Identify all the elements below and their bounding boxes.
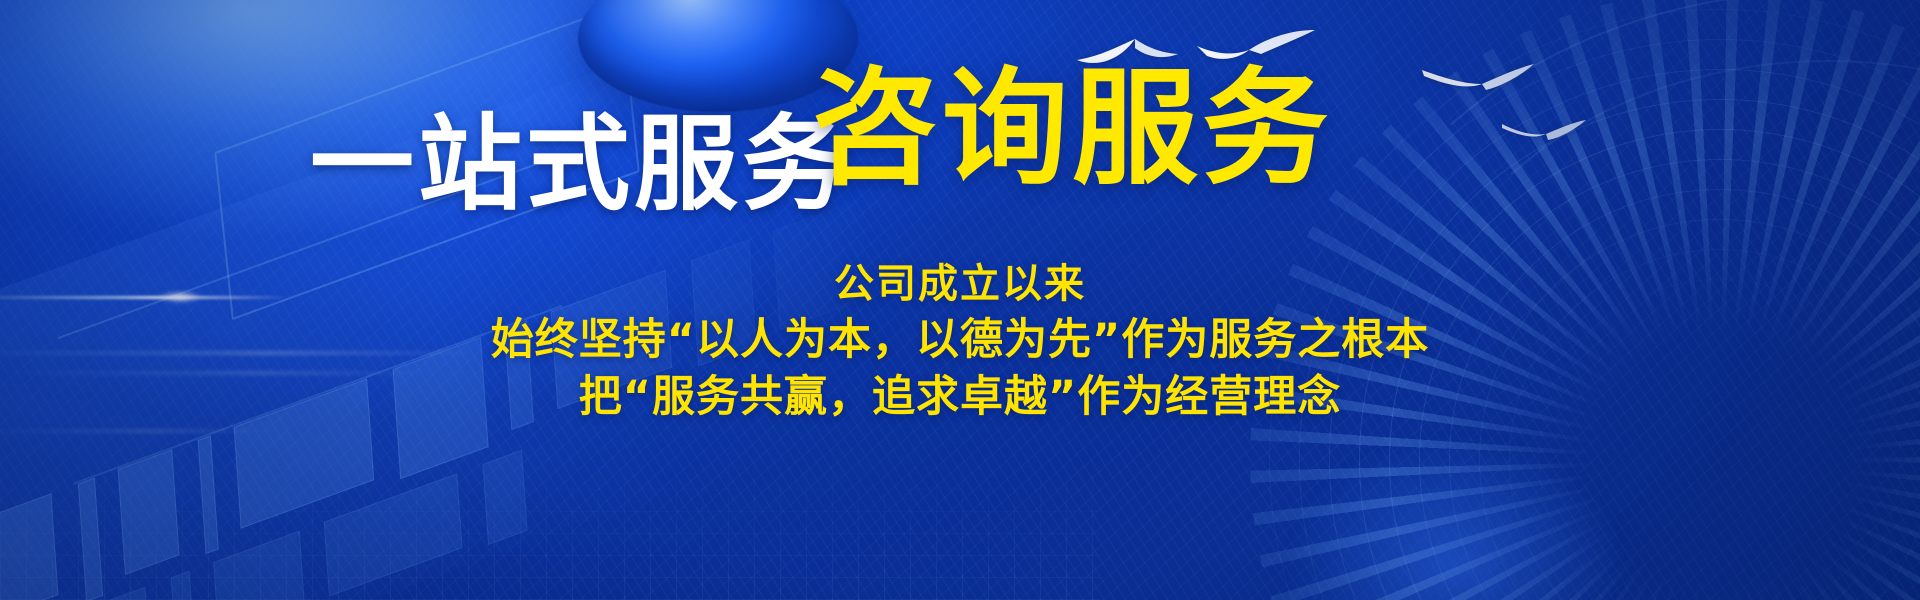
body-line: 把“服务共赢，追求卓越”作为经营理念	[0, 369, 1920, 427]
promo-banner: 一站式服务 咨询服务 公司成立以来 始终坚持“以人为本，以德为先”作为服务之根本…	[0, 0, 1920, 600]
headline-primary: 一站式服务	[310, 112, 850, 216]
headline-accent: 咨询服务	[812, 66, 1332, 192]
body-copy-group: 公司成立以来 始终坚持“以人为本，以德为先”作为服务之根本 把“服务共赢，追求卓…	[0, 258, 1920, 427]
body-line: 始终坚持“以人为本，以德为先”作为服务之根本	[0, 312, 1920, 370]
body-line: 公司成立以来	[0, 258, 1920, 312]
